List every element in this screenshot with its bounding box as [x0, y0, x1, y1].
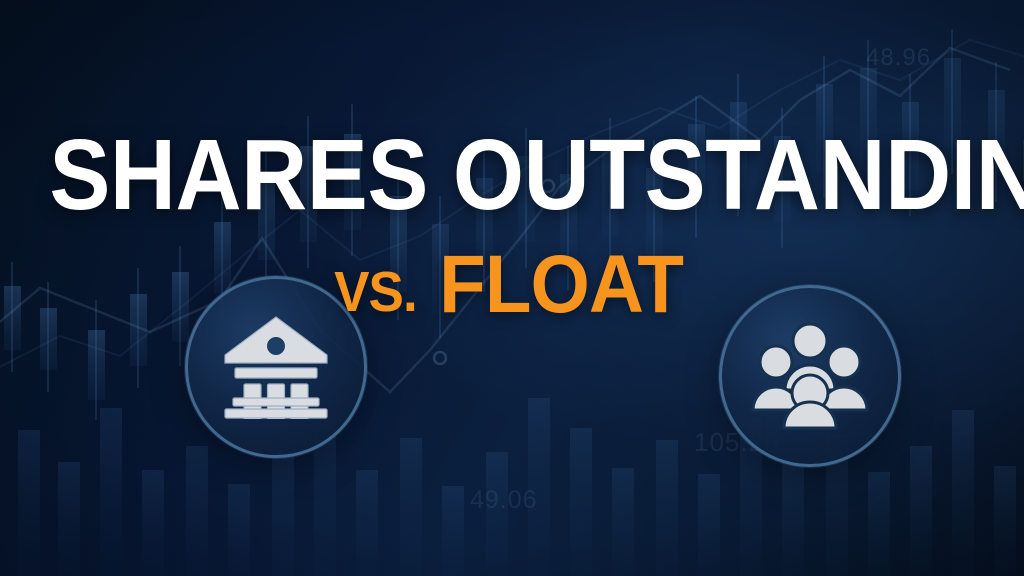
subtitle-vs: VS. [335, 259, 418, 325]
background-price-label-bottom-center: 49.06 [470, 486, 538, 515]
background-price-label-top-right: 48.96 [866, 44, 931, 72]
subtitle-float: FLOAT [440, 238, 684, 332]
title-block: SHARES OUTSTANDING [0, 128, 1024, 223]
poster-canvas: 48.96 49.06 105.20 [0, 0, 1024, 576]
page-title: SHARES OUTSTANDING [49, 128, 1024, 223]
subtitle-block: VS.FLOAT [0, 238, 1024, 332]
people-group-icon [751, 321, 869, 431]
